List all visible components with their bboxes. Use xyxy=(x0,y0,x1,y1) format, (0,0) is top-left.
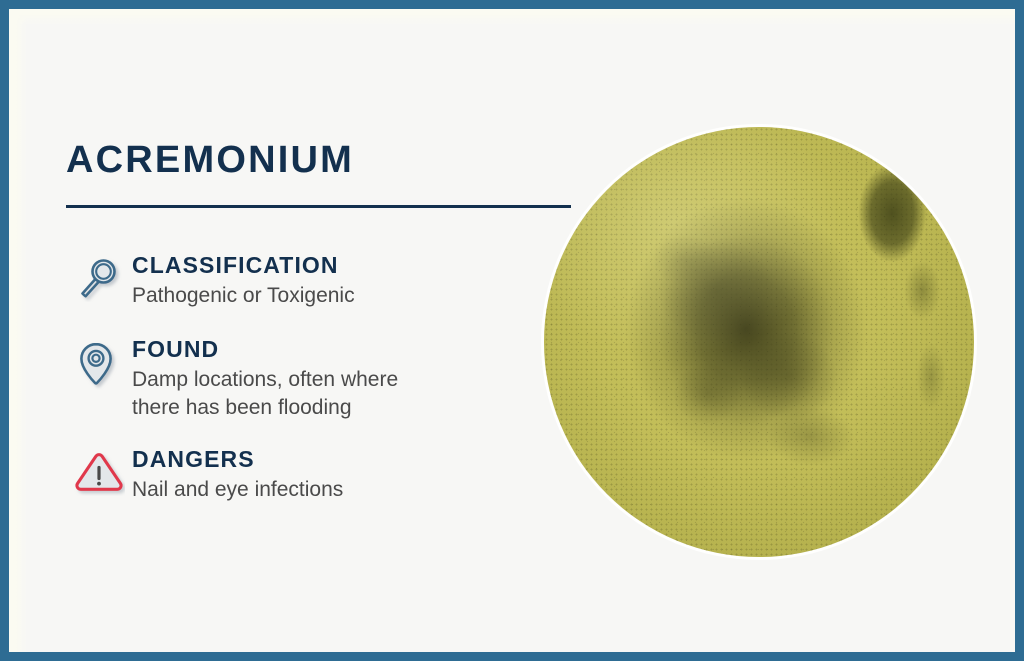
found-body: FOUND Damp locations, often where there … xyxy=(132,336,586,422)
section-text-dangers: Nail and eye infections xyxy=(132,476,586,504)
magnifier-icon xyxy=(66,252,132,312)
warning-triangle-icon xyxy=(66,446,132,506)
infographic-card: ACREMONIUM xyxy=(0,0,1024,661)
petri-dish-photo xyxy=(536,119,976,564)
location-pin-icon xyxy=(66,336,132,396)
info-list: CLASSIFICATION Pathogenic or Toxigenic xyxy=(66,252,586,506)
dangers-body: DANGERS Nail and eye infections xyxy=(132,446,586,504)
title-divider xyxy=(66,205,571,208)
section-heading-found: FOUND xyxy=(132,336,586,363)
section-heading-classification: CLASSIFICATION xyxy=(132,252,586,279)
acremonium-culture-image xyxy=(544,127,974,557)
section-text-classification: Pathogenic or Toxigenic xyxy=(132,282,586,310)
page-title: ACREMONIUM xyxy=(66,141,354,179)
section-heading-dangers: DANGERS xyxy=(132,446,586,473)
list-item-classification: CLASSIFICATION Pathogenic or Toxigenic xyxy=(66,252,586,312)
list-item-found: FOUND Damp locations, often where there … xyxy=(66,336,586,422)
section-text-found: Damp locations, often where there has be… xyxy=(132,366,586,422)
classification-body: CLASSIFICATION Pathogenic or Toxigenic xyxy=(132,252,586,310)
list-item-dangers: DANGERS Nail and eye infections xyxy=(66,446,586,506)
card-inner: ACREMONIUM xyxy=(9,9,1015,652)
content-column: ACREMONIUM xyxy=(66,9,586,652)
